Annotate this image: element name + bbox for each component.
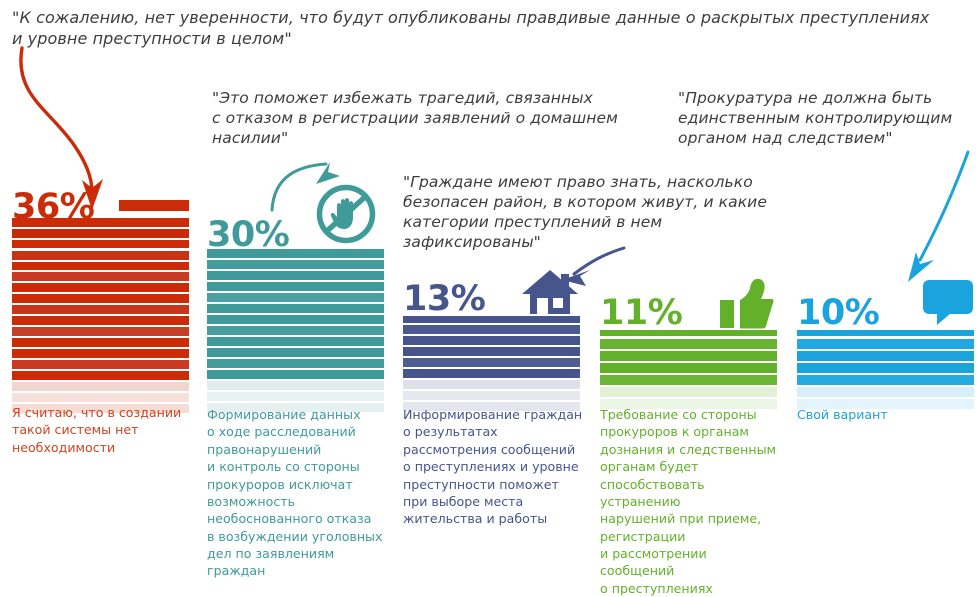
value-label-1: 30% [207,218,289,253]
bar-stripe [12,327,189,336]
thumbs-up-icon [716,278,774,330]
bar-stripe [600,363,777,373]
quote-domestic-violence: "Это поможет избежать трагедий, связанны… [212,88,632,148]
infographic-canvas: "К сожалению, нет уверенности, что будут… [0,0,980,581]
bar-stripe [600,351,777,361]
bar-stripe [403,325,580,334]
bar-stripe [207,282,384,291]
bar-stripes-1 [207,249,384,397]
bar-stripe [12,218,189,227]
bar-stripe [119,200,189,211]
bar-stripe [12,240,189,248]
bar-2 [403,316,580,396]
bar-stripe [207,293,384,302]
bar-stripe [600,339,777,349]
bar-3 [600,330,777,398]
bar-stripe [207,370,384,379]
bar-stripe-faded [207,381,384,390]
bar-stripe [403,316,580,323]
bar-stripe [12,262,189,270]
bar-stripe [403,347,580,356]
bar-stripe [207,249,384,258]
bar-stripe [600,375,777,385]
caption-4: Свой вариант [797,406,977,423]
caption-3: Требование со стороны прокуроров к орган… [600,406,780,597]
bar-stripes-3 [600,330,777,398]
bar-stripes-0 [12,200,189,395]
caption-0: Я считаю, что в создании такой системы н… [12,404,192,456]
value-label-2: 13% [403,282,485,317]
bar-stripe [207,337,384,346]
bar-stripe [12,316,189,325]
value-label-4: 10% [797,296,879,331]
bar-stripe-faded [12,382,189,391]
bar-stripe [207,359,384,368]
bar-stripe [403,336,580,345]
bar-stripe [12,338,189,347]
bar-0 [12,200,189,395]
quote-prosecutor-oversight: "Прокуратура не должна быть единственным… [678,88,978,148]
bar-stripe [403,358,580,367]
bar-stripe-faded [207,392,384,401]
bar-stripe [797,330,974,336]
bar-stripe [12,272,189,281]
bar-stripe [12,229,189,238]
bar-stripe [797,351,974,361]
bar-stripe [207,315,384,324]
bar-stripe [207,304,384,313]
bar-stripe [12,283,189,292]
quote-top-left: "К сожалению, нет уверенности, что будут… [12,8,972,50]
bar-4 [797,330,974,396]
no-hand-icon [315,183,377,245]
bar-stripe [403,369,580,378]
bar-stripe [12,371,189,380]
bar-stripe-faded [600,387,777,397]
bar-stripe [12,360,189,369]
bar-stripe [797,375,974,385]
bar-stripes-4 [797,330,974,396]
bar-stripe [207,260,384,269]
bar-stripe [207,326,384,335]
bar-stripe [797,363,974,373]
caption-2: Информирование граждан о результатах рас… [403,406,583,528]
bar-stripe [600,330,777,336]
bar-stripe [797,339,974,349]
bar-1 [207,249,384,397]
house-icon [520,268,580,316]
bar-stripe-faded [403,391,580,400]
bar-stripe [207,348,384,357]
bar-stripe [12,251,189,260]
speech-bubble-icon [921,280,975,330]
bar-stripe-faded [797,387,974,397]
bar-stripe [12,294,189,303]
value-label-3: 11% [600,296,682,331]
bar-stripe [207,271,384,280]
bar-stripe-faded [12,393,189,402]
quote-citizens-right: "Граждане имеют право знать, насколько б… [403,172,793,253]
bar-stripe [12,305,189,314]
caption-1: Формирование данных о ходе расследований… [207,406,387,580]
bar-stripe-faded [403,380,580,389]
bar-stripe [12,349,189,358]
bar-stripes-2 [403,316,580,396]
